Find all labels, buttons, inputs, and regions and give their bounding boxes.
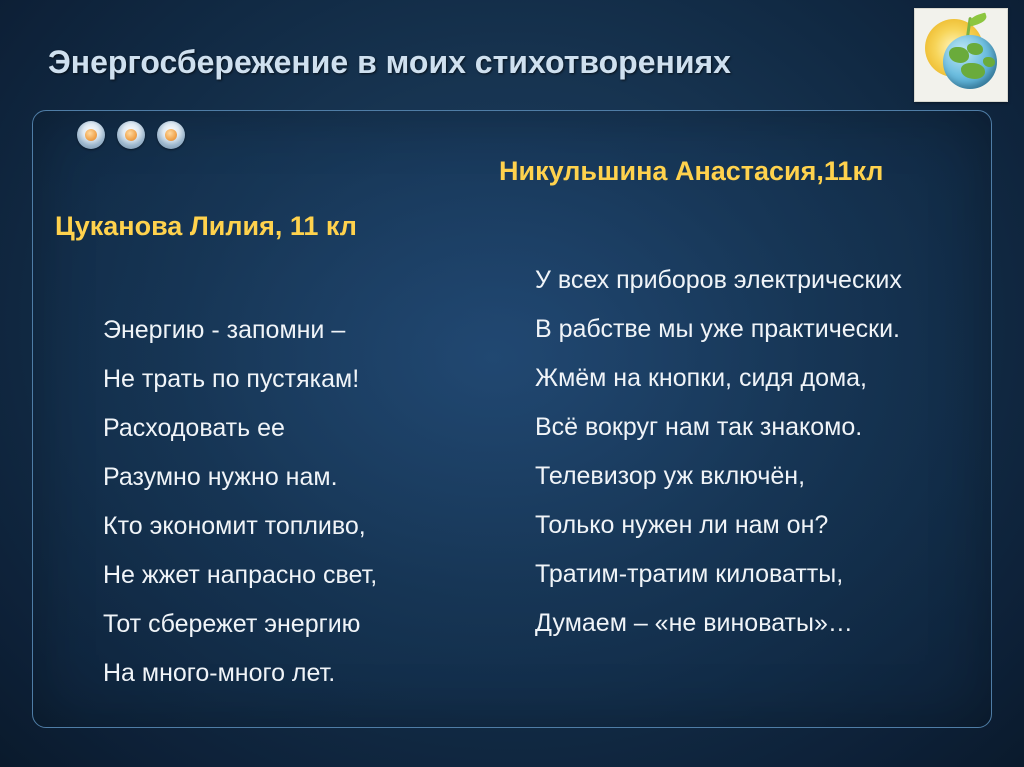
poem-line: На много-много лет.: [103, 649, 377, 698]
slide: Энергосбережение в моих стихотворениях: [0, 0, 1024, 767]
poem-line: Не трать по пустякам!: [103, 355, 377, 404]
globe-land-2: [967, 43, 983, 55]
poem-line: Не жжет напрасно свет,: [103, 551, 377, 600]
poem-line: Телевизор уж включён,: [535, 452, 902, 501]
globe-land-1: [949, 47, 969, 63]
leaf-icon: [968, 12, 988, 26]
page-title: Энергосбережение в моих стихотворениях: [48, 44, 731, 81]
poem-line: Жмём на кнопки, сидя дома,: [535, 354, 902, 403]
poem-line: Тот сбережет энергию: [103, 600, 377, 649]
author-name-right: Никульшина Анастасия,11кл: [499, 156, 883, 187]
bullet-dots: [77, 121, 185, 149]
author-name-left: Цуканова Лилия, 11 кл: [55, 211, 357, 242]
poem-text-left: Энергию - запомни – Не трать по пустякам…: [103, 306, 377, 698]
globe-icon: [943, 35, 997, 89]
poem-text-right: У всех приборов электрических В рабстве …: [535, 256, 902, 648]
bullet-dot-1: [77, 121, 105, 149]
poem-line: Всё вокруг нам так знакомо.: [535, 403, 902, 452]
poem-line: Разумно нужно нам.: [103, 453, 377, 502]
bullet-dot-2: [117, 121, 145, 149]
poem-line: Кто экономит топливо,: [103, 502, 377, 551]
poem-line: В рабстве мы уже практически.: [535, 305, 902, 354]
content-panel: Цуканова Лилия, 11 кл Энергию - запомни …: [32, 110, 992, 728]
globe-land-3: [961, 63, 985, 79]
poem-line: У всех приборов электрических: [535, 256, 902, 305]
bullet-dot-3: [157, 121, 185, 149]
sun-globe-leaf-icon: [915, 9, 1007, 101]
poem-line: Расходовать ее: [103, 404, 377, 453]
globe-land-4: [983, 57, 995, 67]
poem-line: Энергию - запомни –: [103, 306, 377, 355]
poem-line: Думаем – «не виноваты»…: [535, 599, 902, 648]
slide-header: Энергосбережение в моих стихотворениях: [0, 0, 1024, 108]
poem-line: Только нужен ли нам он?: [535, 501, 902, 550]
logo: [914, 8, 1008, 102]
poem-line: Тратим-тратим киловатты,: [535, 550, 902, 599]
